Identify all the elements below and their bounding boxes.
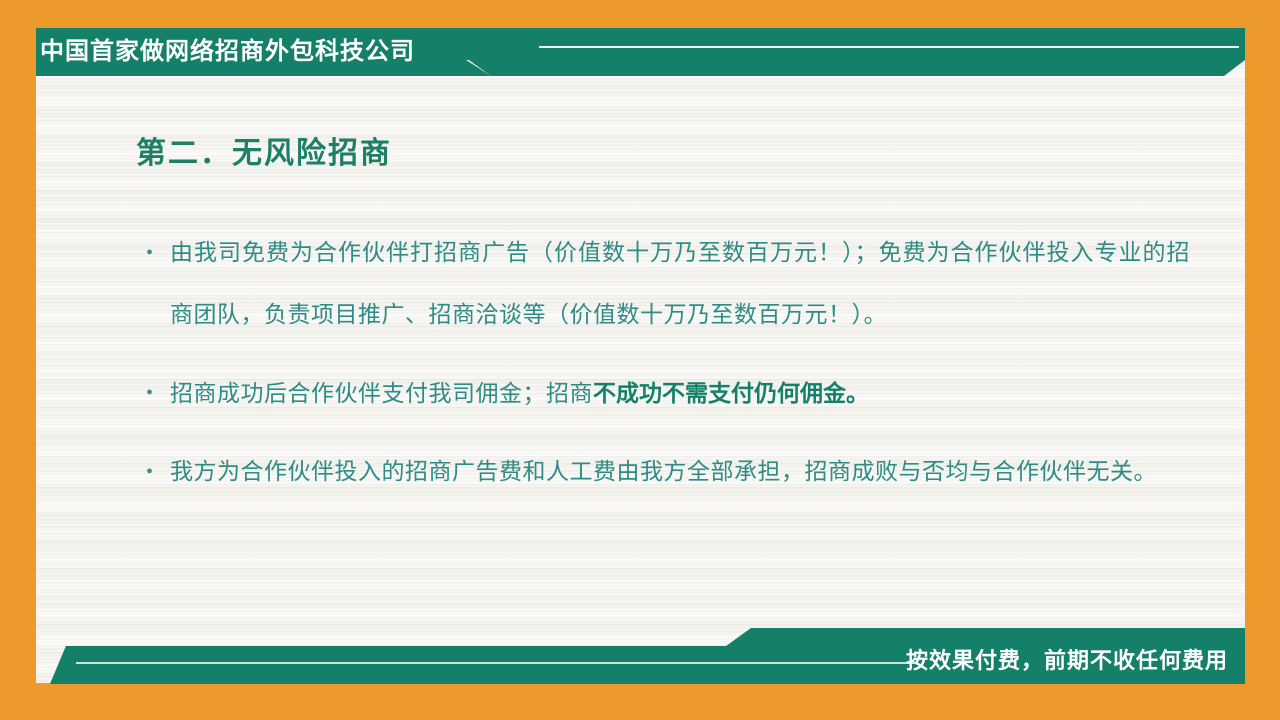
list-item: •由我司免费为合作伙伴打招商广告（价值数十万乃至数百万元！）；免费为合作伙伴投入…: [140, 222, 1190, 346]
bullet-list: •由我司免费为合作伙伴打招商广告（价值数十万乃至数百万元！）；免费为合作伙伴投入…: [140, 222, 1190, 519]
bullet-text: 由我司免费为合作伙伴打招商广告（价值数十万乃至数百万元！）；免费为合作伙伴投入专…: [170, 240, 1190, 327]
list-item: •招商成功后合作伙伴支付我司佣金；招商不成功不需支付仍何佣金。: [140, 362, 1190, 425]
header-title: 中国首家做网络招商外包科技公司: [40, 34, 415, 70]
slide-root: 中国首家做网络招商外包科技公司 第二．无风险招商 •由我司免费为合作伙伴打招商广…: [0, 0, 1280, 720]
bullet-text: 招商成功后合作伙伴支付我司佣金；招商: [170, 381, 593, 406]
footer-tagline: 按效果付费，前期不收任何费用: [906, 645, 1228, 677]
bullet-text-emphasis: 不成功不需支付仍何佣金。: [593, 380, 869, 406]
page-title: 第二．无风险招商: [136, 132, 392, 176]
bullet-marker-icon: •: [146, 441, 154, 503]
bullet-marker-icon: •: [146, 362, 154, 424]
bullet-text: 我方为合作伙伴投入的招商广告费和人工费由我方全部承担，招商成败与否均与合作伙伴无…: [170, 459, 1157, 484]
list-item: •我方为合作伙伴投入的招商广告费和人工费由我方全部承担，招商成败与否均与合作伙伴…: [140, 441, 1190, 503]
bullet-marker-icon: •: [146, 222, 154, 284]
